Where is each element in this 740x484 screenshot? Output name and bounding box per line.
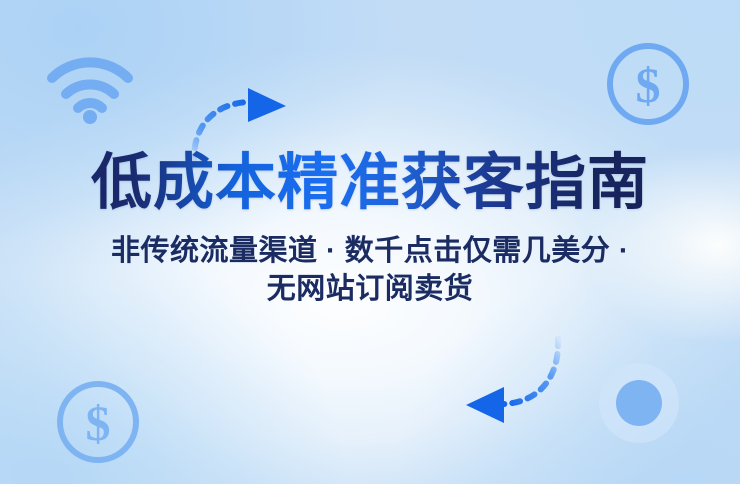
dollar-circle-icon-2: $ bbox=[52, 376, 144, 468]
poster-subtitle: 非传统流量渠道 · 数千点击仅需几美分 · 无网站订阅卖货 bbox=[0, 232, 740, 309]
curved-arrow-left-icon bbox=[446, 336, 566, 432]
dot-halo-icon bbox=[596, 360, 682, 446]
dollar-circle-icon: $ bbox=[602, 38, 694, 130]
svg-text:$: $ bbox=[86, 395, 111, 451]
poster-subtitle-line-1: 非传统流量渠道 · 数千点击仅需几美分 · bbox=[0, 232, 740, 270]
poster-canvas: $ $ bbox=[0, 0, 740, 484]
poster-text-block: 低成本精准获客指南 非传统流量渠道 · 数千点击仅需几美分 · 无网站订阅卖货 bbox=[0, 150, 740, 308]
wifi-icon bbox=[42, 44, 138, 128]
poster-headline: 低成本精准获客指南 bbox=[0, 150, 740, 216]
svg-text:$: $ bbox=[636, 57, 661, 113]
poster-subtitle-line-2: 无网站订阅卖货 bbox=[0, 270, 740, 308]
